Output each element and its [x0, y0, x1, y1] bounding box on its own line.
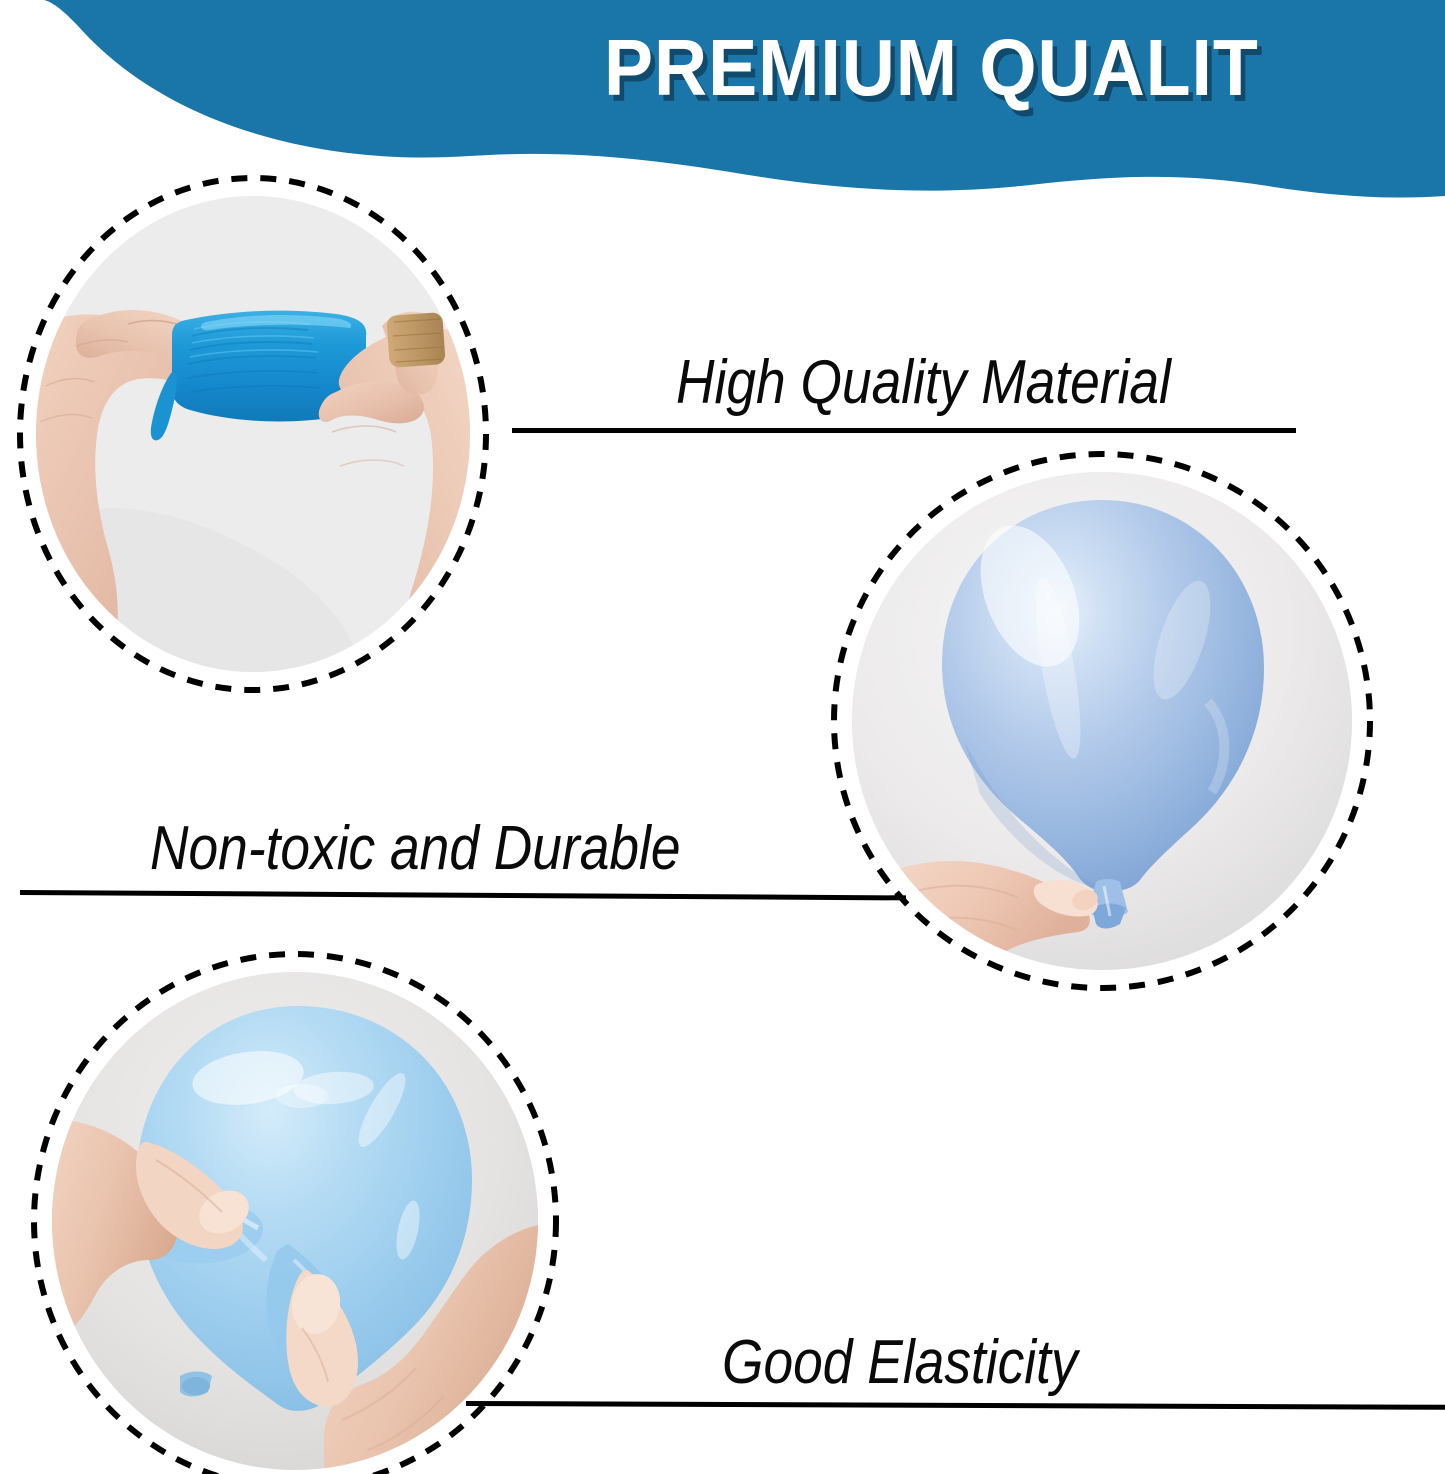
photo-hands-stretching-deflated-balloon: [36, 196, 470, 672]
feature-label-good-elasticity: Good Elasticity: [722, 1332, 1078, 1394]
connector-line-non-toxic-and-durable: [20, 890, 906, 900]
page-title: PREMIUM QUALIT: [604, 26, 1414, 110]
feature-label-high-quality-material: High Quality Material: [676, 352, 1171, 414]
photo-hand-holding-inflated-balloon: [852, 472, 1352, 970]
photo-circle-non-toxic-and-durable: [828, 448, 1376, 994]
connector-line-high-quality-material: [512, 428, 1296, 433]
connector-line-good-elasticity: [466, 1401, 1445, 1410]
photo-circle-high-quality-material: [14, 172, 492, 696]
photo-circle-good-elasticity: [28, 948, 562, 1474]
feature-label-non-toxic-and-durable: Non-toxic and Durable: [150, 818, 681, 880]
infographic-canvas: PREMIUM QUALIT: [0, 0, 1445, 1474]
photo-hands-squeezing-balloon: [52, 972, 538, 1470]
